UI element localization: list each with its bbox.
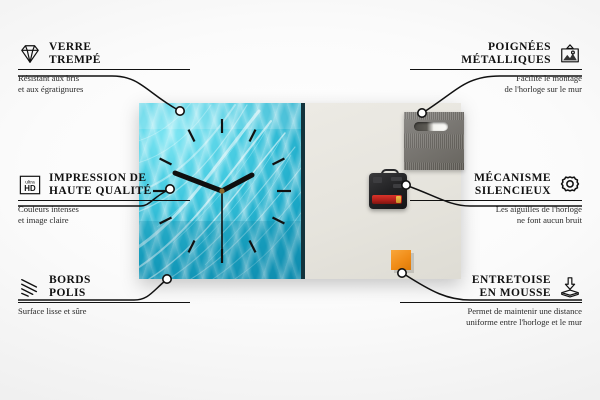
mechanism-battery bbox=[372, 195, 402, 204]
callout-header: BORDS POLIS bbox=[18, 274, 190, 299]
callout-title-line2: MÉTALLIQUES bbox=[461, 54, 551, 67]
polished-edges-icon bbox=[18, 276, 42, 298]
callout-title-line1: POIGNÉES bbox=[461, 41, 551, 54]
callout-rule bbox=[18, 302, 190, 303]
callout-impression-hd[interactable]: ultra HD IMPRESSION DE HAUTE QUALITÉ Cou… bbox=[18, 172, 190, 225]
callout-header: POIGNÉES MÉTALLIQUES bbox=[410, 41, 582, 66]
callout-title-line1: ENTRETOISE bbox=[472, 274, 551, 287]
callout-subtitle-line2: et aux égratignures bbox=[18, 84, 190, 94]
callout-rule bbox=[400, 302, 582, 303]
callout-rule bbox=[18, 69, 190, 70]
diamond-icon bbox=[18, 43, 42, 65]
callout-subtitle-line2: et image claire bbox=[18, 215, 190, 225]
callout-title-line2: SILENCIEUX bbox=[474, 185, 551, 198]
framed-picture-icon bbox=[558, 43, 582, 65]
battery-terminal bbox=[396, 196, 401, 203]
callout-header: VERRE TREMPÉ bbox=[18, 41, 190, 66]
foam-spacer-icon bbox=[558, 276, 582, 298]
callout-header: MÉCANISME SILENCIEUX bbox=[410, 172, 582, 197]
mechanism-detail bbox=[373, 177, 382, 183]
callout-subtitle-line1: Permet de maintenir une distance bbox=[400, 306, 582, 316]
callout-subtitle-line1: Couleurs intenses bbox=[18, 204, 190, 214]
callout-header: ultra HD IMPRESSION DE HAUTE QUALITÉ bbox=[18, 172, 190, 197]
mechanism-detail bbox=[391, 177, 402, 181]
callout-title-line1: BORDS bbox=[49, 274, 91, 287]
callout-verre-trempe[interactable]: VERRE TREMPÉ Résistant aux bris et aux é… bbox=[18, 41, 190, 94]
quartz-mechanism bbox=[369, 169, 407, 209]
callout-title-line1: VERRE bbox=[49, 41, 101, 54]
infographic-canvas: VERRE TREMPÉ Résistant aux bris et aux é… bbox=[0, 0, 600, 400]
callout-poignees-metalliques[interactable]: POIGNÉES MÉTALLIQUES Facilite le montage… bbox=[410, 41, 582, 94]
callout-subtitle-line1: Les aiguilles de l'horloge bbox=[410, 204, 582, 214]
callout-rule bbox=[410, 200, 582, 201]
callout-header: ENTRETOISE EN MOUSSE bbox=[400, 274, 582, 299]
callout-subtitle-line1: Surface lisse et sûre bbox=[18, 306, 190, 316]
svg-text:HD: HD bbox=[24, 184, 36, 193]
callout-subtitle-line1: Résistant aux bris bbox=[18, 73, 190, 83]
callout-bords-polis[interactable]: BORDS POLIS Surface lisse et sûre bbox=[18, 274, 190, 317]
foam-spacer bbox=[391, 250, 411, 270]
callout-subtitle-line2: de l'horloge sur le mur bbox=[410, 84, 582, 94]
callout-entretoise-mousse[interactable]: ENTRETOISE EN MOUSSE Permet de maintenir… bbox=[400, 274, 582, 327]
callout-title-line1: IMPRESSION DE bbox=[49, 172, 152, 185]
mechanism-detail bbox=[393, 184, 402, 188]
clock-center-cap bbox=[219, 188, 224, 193]
callout-mecanisme-silencieux[interactable]: MÉCANISME SILENCIEUX Les aiguilles de l'… bbox=[410, 172, 582, 225]
callout-title-line2: EN MOUSSE bbox=[472, 287, 551, 300]
ultra-hd-icon: ultra HD bbox=[18, 174, 42, 196]
callout-rule bbox=[410, 69, 582, 70]
metal-hanger-plate bbox=[404, 112, 464, 170]
callout-subtitle-line1: Facilite le montage bbox=[410, 73, 582, 83]
callout-title-line2: HAUTE QUALITÉ bbox=[49, 185, 152, 198]
callout-title-line2: TREMPÉ bbox=[49, 54, 101, 67]
callout-title-line2: POLIS bbox=[49, 287, 91, 300]
gear-icon bbox=[558, 174, 582, 196]
callout-subtitle-line2: ne font aucun bruit bbox=[410, 215, 582, 225]
hanger-keyhole-slot bbox=[414, 122, 448, 131]
mechanism-body bbox=[369, 173, 407, 209]
callout-rule bbox=[18, 200, 190, 201]
callout-title-line1: MÉCANISME bbox=[474, 172, 551, 185]
callout-subtitle-line2: uniforme entre l'horloge et le mur bbox=[400, 317, 582, 327]
